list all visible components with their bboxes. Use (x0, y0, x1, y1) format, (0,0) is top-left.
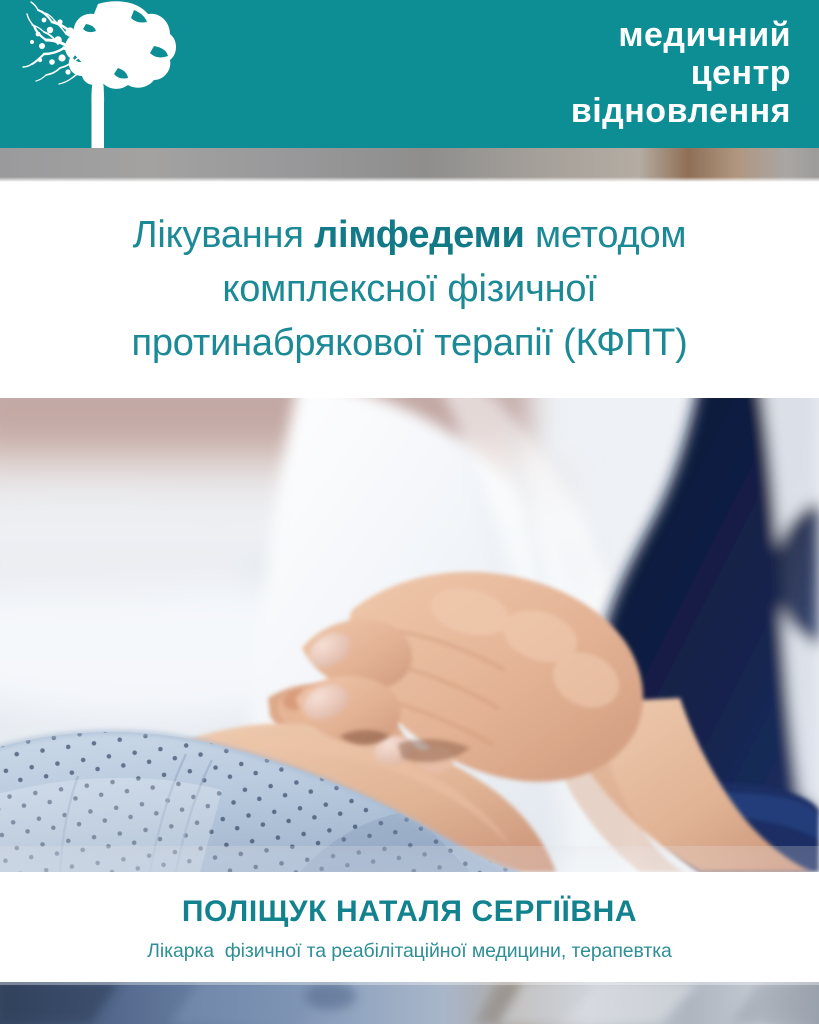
header-photo-strip (0, 148, 819, 182)
brand-line-2: центр (571, 54, 791, 92)
headline-prefix: Лікування (133, 214, 314, 256)
headline-suffix: методом (525, 214, 687, 256)
tree-logo-icon (14, 0, 184, 148)
headline-line-1: Лікування лімфедеми методом (133, 209, 687, 263)
brand-line-3: відновлення (571, 92, 791, 130)
doctor-name: ПОЛІЩУК НАТАЛЯ СЕРГІЇВНА (182, 895, 637, 929)
headline-line-3: протинабрякової терапії (КФПТ) (131, 317, 687, 371)
headline-line-2: комплексної фізичної (222, 263, 596, 317)
brand-text: медичний центр відновлення (571, 16, 791, 130)
doctor-credit-block: ПОЛІЩУК НАТАЛЯ СЕРГІЇВНА Лікарка фізично… (0, 872, 819, 982)
clasped-hands-photo (0, 398, 819, 872)
bottom-photo-strip (0, 982, 819, 1024)
doctor-role: Лікарка фізичної та реабілітаційної меди… (147, 940, 672, 963)
headline-block: Лікування лімфедеми методом комплексної … (0, 182, 819, 398)
brand-line-1: медичний (571, 16, 791, 54)
headline-emphasis: лімфедеми (314, 214, 525, 256)
poster-root: медичний центр відновлення Лікування лім… (0, 0, 819, 1024)
brand-header: медичний центр відновлення (0, 0, 819, 148)
